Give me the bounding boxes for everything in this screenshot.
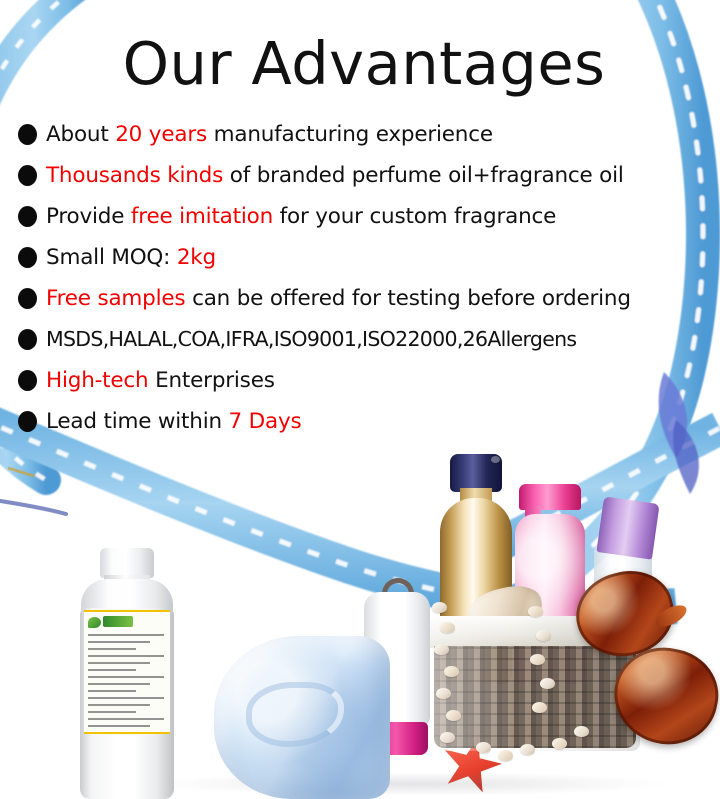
amber-sunglasses [576, 572, 720, 754]
seashell [528, 606, 543, 617]
seashell [436, 688, 451, 699]
brand-mark [103, 616, 133, 627]
seashell [530, 654, 545, 665]
ribbon-thread-detail [0, 468, 66, 514]
list-item-text: MSDS,HALAL,COA,IFRA,ISO9001,ISO22000,26A… [46, 329, 576, 350]
label-microtext [88, 704, 150, 706]
page-title: Our Advantages [0, 34, 720, 93]
seashell [536, 630, 551, 641]
label-microtext [88, 690, 136, 692]
bottle-cap [100, 548, 154, 578]
label-microtext [88, 655, 164, 657]
list-item-text: Lead time within 7 Days [46, 411, 302, 433]
bullet-dot-icon [18, 329, 37, 350]
list-item: High-tech Enterprises [18, 360, 708, 401]
navy-cap [450, 454, 502, 492]
list-item-text: Small MOQ: 2kg [46, 247, 216, 269]
label-microtext [88, 711, 136, 713]
label-microtext [88, 683, 150, 685]
bullet-dot-icon [18, 165, 37, 186]
bullet-dot-icon [18, 288, 37, 309]
list-item: MSDS,HALAL,COA,IFRA,ISO9001,ISO22000,26A… [18, 319, 708, 360]
towel-fold [246, 682, 345, 747]
list-item: Small MOQ: 2kg [18, 237, 708, 278]
bullet-dot-icon [18, 247, 37, 268]
list-item-text: High-tech Enterprises [46, 370, 275, 392]
bullet-dot-icon [18, 411, 37, 432]
seashell [440, 622, 455, 633]
list-item: Thousands kinds of branded perfume oil+f… [18, 155, 708, 196]
list-item-text: Free samples can be offered for testing … [46, 288, 631, 310]
seashell [444, 666, 459, 677]
label-microtext [88, 718, 164, 720]
seashell [498, 750, 513, 761]
white-hdpe-bottle [78, 548, 176, 799]
seashell [552, 738, 567, 749]
rolled-blue-towel [214, 636, 390, 799]
list-item-text: Provide free imitation for your custom f… [46, 206, 556, 228]
bullet-dot-icon [18, 370, 37, 391]
leaf-logo-icon [88, 617, 101, 628]
seashell [446, 710, 461, 721]
product-label [84, 610, 170, 734]
advantages-banner: Our Advantages About 20 years manufactur… [0, 0, 720, 799]
list-item: Provide free imitation for your custom f… [18, 196, 708, 237]
label-microtext [88, 697, 164, 699]
seashell [440, 732, 455, 743]
label-microtext [88, 648, 136, 650]
list-item: About 20 years manufacturing experience [18, 114, 708, 155]
list-item: Free samples can be offered for testing … [18, 278, 708, 319]
seashell [434, 644, 449, 655]
seashell [476, 742, 491, 753]
advantages-list: About 20 years manufacturing experience … [18, 114, 708, 442]
label-microtext [88, 662, 150, 664]
label-microtext [88, 725, 150, 727]
label-microtext [88, 634, 164, 636]
list-item: Lead time within 7 Days [18, 401, 708, 442]
seashell [532, 702, 547, 713]
bullet-dot-icon [18, 124, 37, 145]
label-microtext [88, 676, 164, 678]
purple-cap [596, 496, 659, 559]
label-microtext [88, 641, 150, 643]
list-item-text: About 20 years manufacturing experience [46, 124, 493, 146]
seashell [540, 678, 555, 689]
list-item-text: Thousands kinds of branded perfume oil+f… [46, 165, 624, 187]
seashell [432, 602, 447, 613]
seashell [520, 744, 535, 755]
bullet-dot-icon [18, 206, 37, 227]
label-microtext [88, 669, 136, 671]
